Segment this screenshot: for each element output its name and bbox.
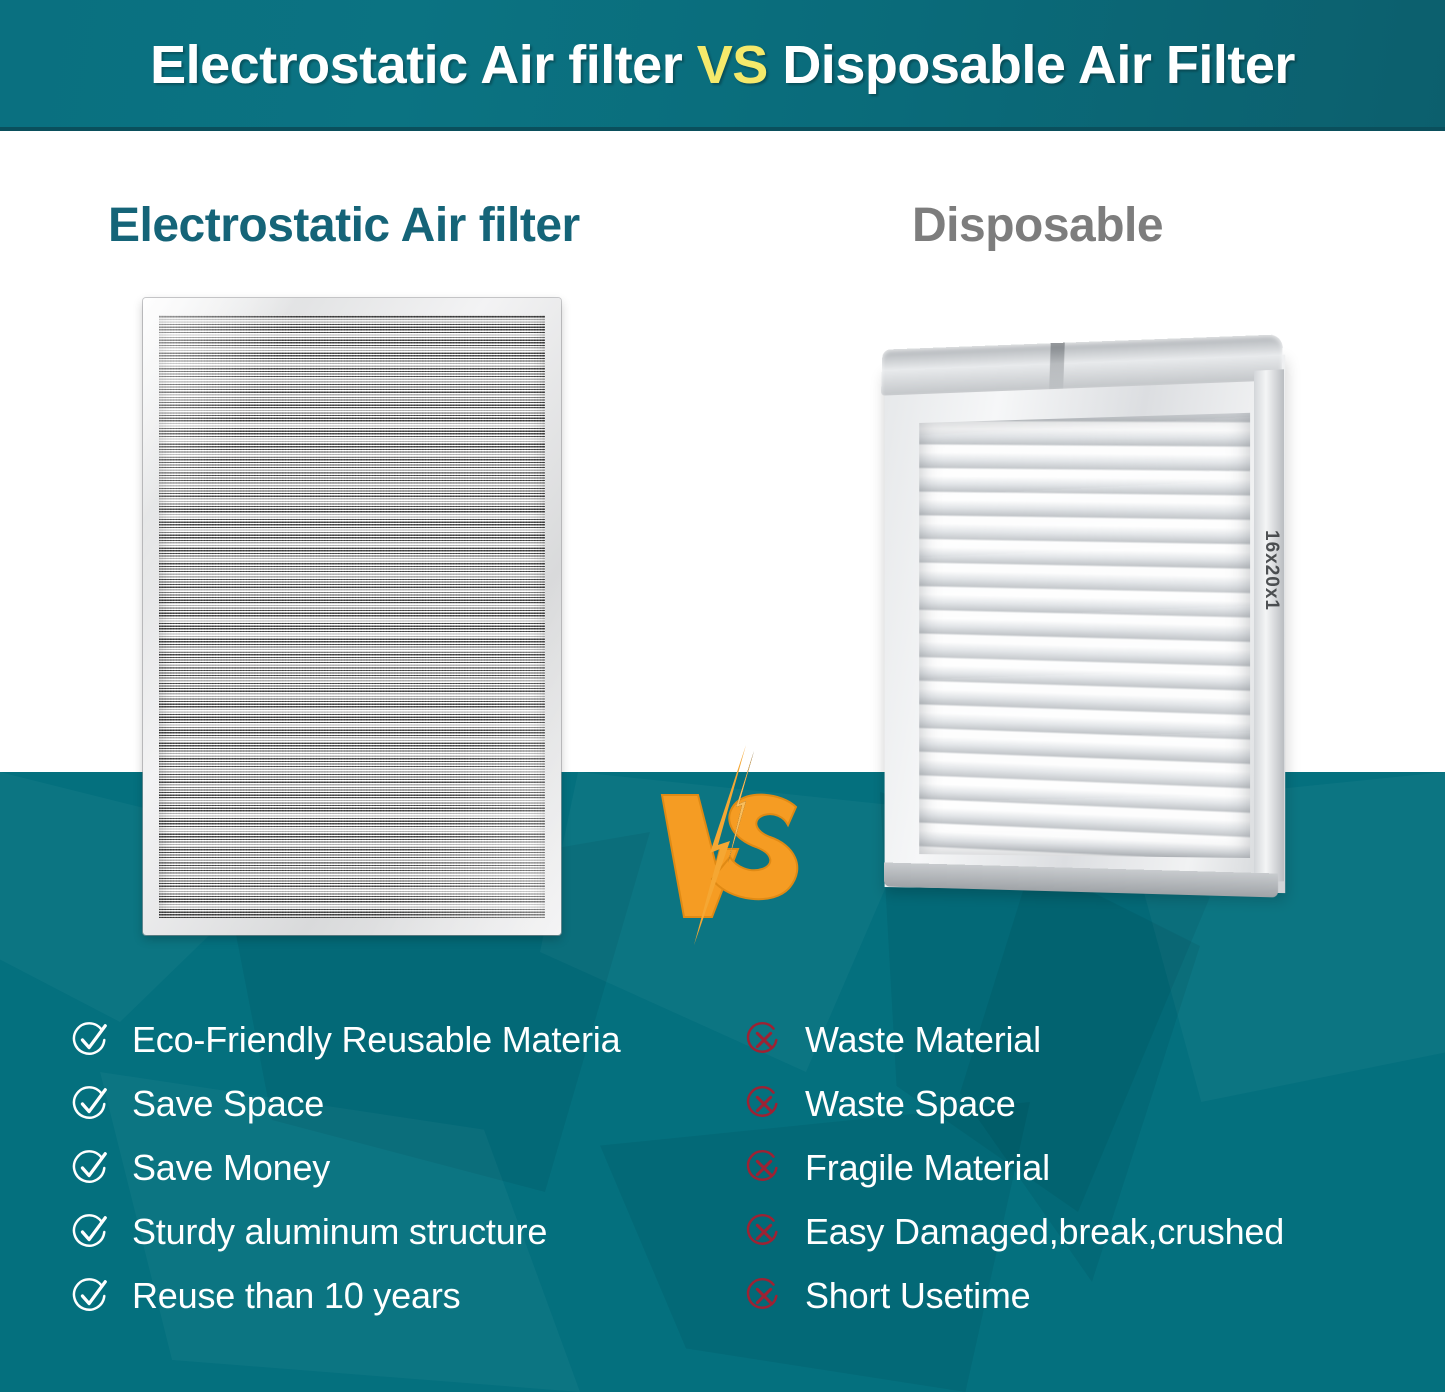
filter-mesh-texture	[159, 315, 545, 918]
list-item-label: Sturdy aluminum structure	[132, 1211, 547, 1253]
disposable-filter-frame	[885, 355, 1286, 893]
page-title: Electrostatic Air filter VS Disposable A…	[0, 34, 1445, 96]
list-item-label: Save Space	[132, 1083, 324, 1125]
electrostatic-filter-image	[143, 298, 561, 935]
list-item: Save Space	[72, 1072, 732, 1136]
list-item-label: Short Usetime	[805, 1275, 1030, 1317]
list-item: Waste Space	[745, 1072, 1425, 1136]
list-item-label: Fragile Material	[805, 1147, 1050, 1189]
pros-list: Eco-Friendly Reusable Materia Save Space…	[72, 1008, 732, 1328]
disposable-filter-side-rail	[1254, 369, 1284, 883]
list-item-label: Save Money	[132, 1147, 330, 1189]
list-item: Fragile Material	[745, 1136, 1425, 1200]
list-item: Easy Damaged,break,crushed	[745, 1200, 1425, 1264]
list-item-label: Eco-Friendly Reusable Materia	[132, 1019, 620, 1061]
x-circle-icon	[745, 1085, 783, 1123]
page-title-part-one: Electrostatic Air filter	[150, 35, 682, 95]
header-banner: Electrostatic Air filter VS Disposable A…	[0, 0, 1445, 131]
check-circle-icon	[72, 1021, 110, 1059]
vs-badge	[650, 745, 820, 945]
left-column-label: Electrostatic Air filter	[108, 198, 580, 253]
x-circle-icon	[745, 1277, 783, 1315]
list-item-label: Easy Damaged,break,crushed	[805, 1211, 1284, 1253]
cons-list: Waste Material Waste Space Fragile Mater…	[745, 1008, 1425, 1328]
page-title-vs: VS	[697, 35, 768, 95]
check-circle-icon	[72, 1213, 110, 1251]
page-title-part-two: Disposable Air Filter	[782, 35, 1295, 95]
list-item: Eco-Friendly Reusable Materia	[72, 1008, 732, 1072]
list-item: Reuse than 10 years	[72, 1264, 732, 1328]
list-item-label: Reuse than 10 years	[132, 1275, 460, 1317]
list-item-label: Waste Material	[805, 1019, 1041, 1061]
list-item: Short Usetime	[745, 1264, 1425, 1328]
disposable-filter-media	[919, 413, 1250, 858]
x-circle-icon	[745, 1149, 783, 1187]
list-item: Waste Material	[745, 1008, 1425, 1072]
check-circle-icon	[72, 1149, 110, 1187]
disposable-filter-image: 16x20x1	[866, 336, 1296, 896]
list-item-label: Waste Space	[805, 1083, 1016, 1125]
disposable-filter-size-label: 16x20x1	[1260, 530, 1282, 556]
list-item: Save Money	[72, 1136, 732, 1200]
x-circle-icon	[745, 1213, 783, 1251]
check-circle-icon	[72, 1085, 110, 1123]
x-circle-icon	[745, 1021, 783, 1059]
right-column-label: Disposable	[912, 198, 1163, 253]
check-circle-icon	[72, 1277, 110, 1315]
list-item: Sturdy aluminum structure	[72, 1200, 732, 1264]
vs-badge-letters	[662, 795, 797, 917]
